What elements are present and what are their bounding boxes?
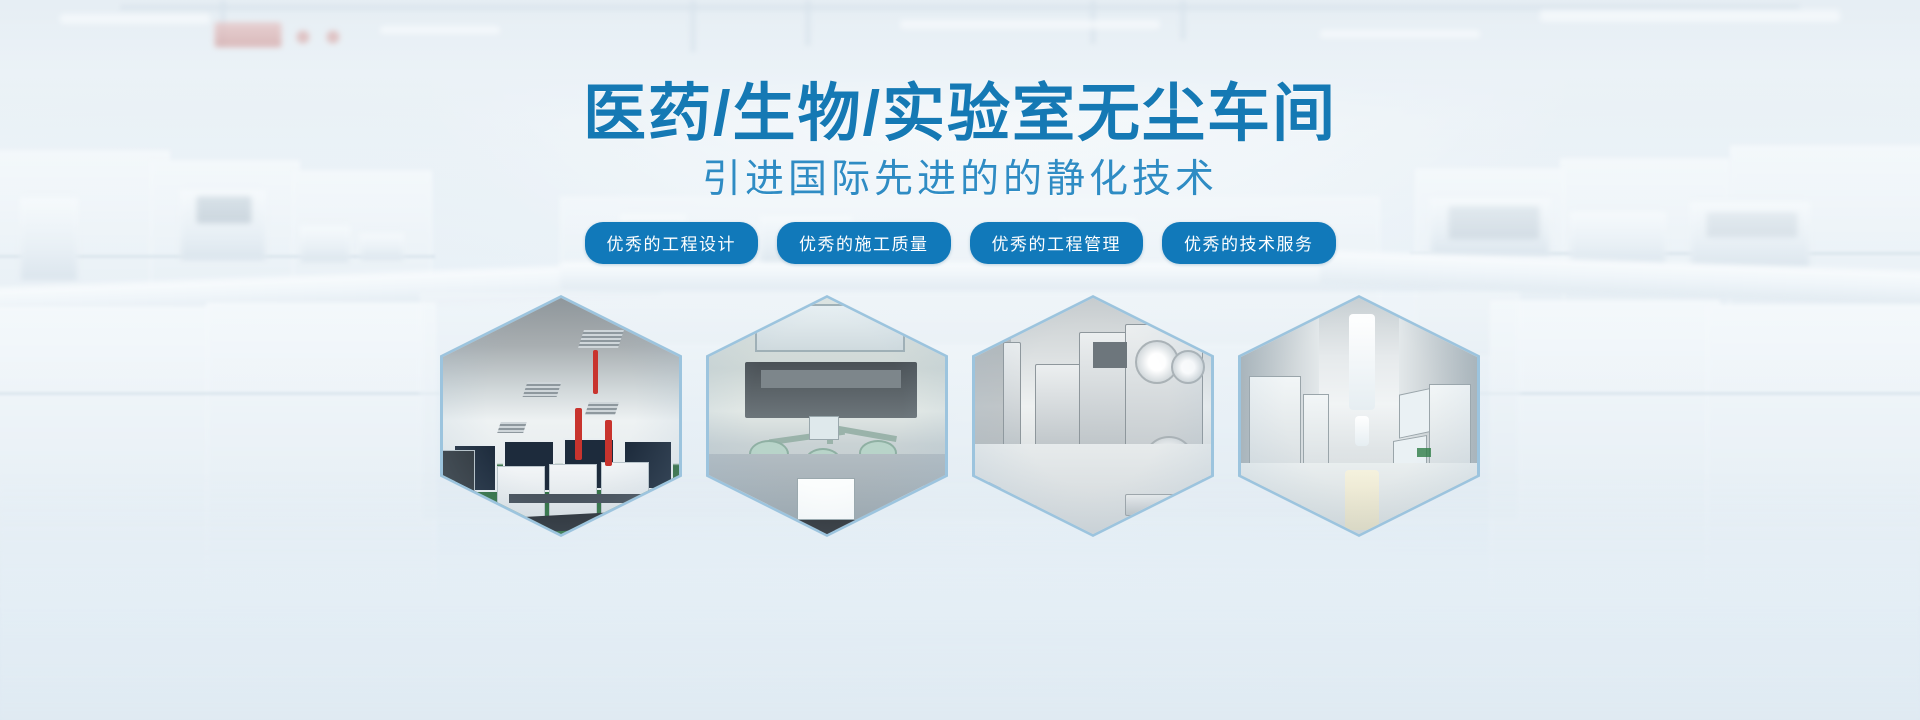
headline-group: 医药/生物/实验室无尘车间 引进国际先进的的静化技术 (0, 78, 1920, 204)
hexagon-laboratory-bench-room[interactable] (440, 295, 682, 537)
feature-pill-technical-service[interactable]: 优秀的技术服务 (1162, 222, 1336, 264)
feature-pill-project-management[interactable]: 优秀的工程管理 (970, 222, 1144, 264)
feature-pill-engineering-design[interactable]: 优秀的工程设计 (585, 222, 759, 264)
cleanroom-corridor-image (1241, 298, 1477, 534)
operating-theatre-image (709, 298, 945, 534)
feature-pill-list: 优秀的工程设计 优秀的施工质量 优秀的工程管理 优秀的技术服务 (0, 222, 1920, 264)
lab-bench-room-image (443, 298, 679, 534)
banner-subtitle: 引进国际先进的的静化技术 (0, 156, 1920, 204)
hexagon-gallery (0, 295, 1920, 537)
hexagon-operating-theatre[interactable] (706, 295, 948, 537)
hero-banner: 医药/生物/实验室无尘车间 引进国际先进的的静化技术 优秀的工程设计 优秀的施工… (0, 0, 1920, 720)
hexagon-packaging-line[interactable] (972, 295, 1214, 537)
feature-pill-construction-quality[interactable]: 优秀的施工质量 (777, 222, 951, 264)
banner-title: 医药/生物/实验室无尘车间 (0, 78, 1920, 150)
hexagon-cleanroom-corridor[interactable] (1238, 295, 1480, 537)
packaging-line-image (975, 298, 1211, 534)
